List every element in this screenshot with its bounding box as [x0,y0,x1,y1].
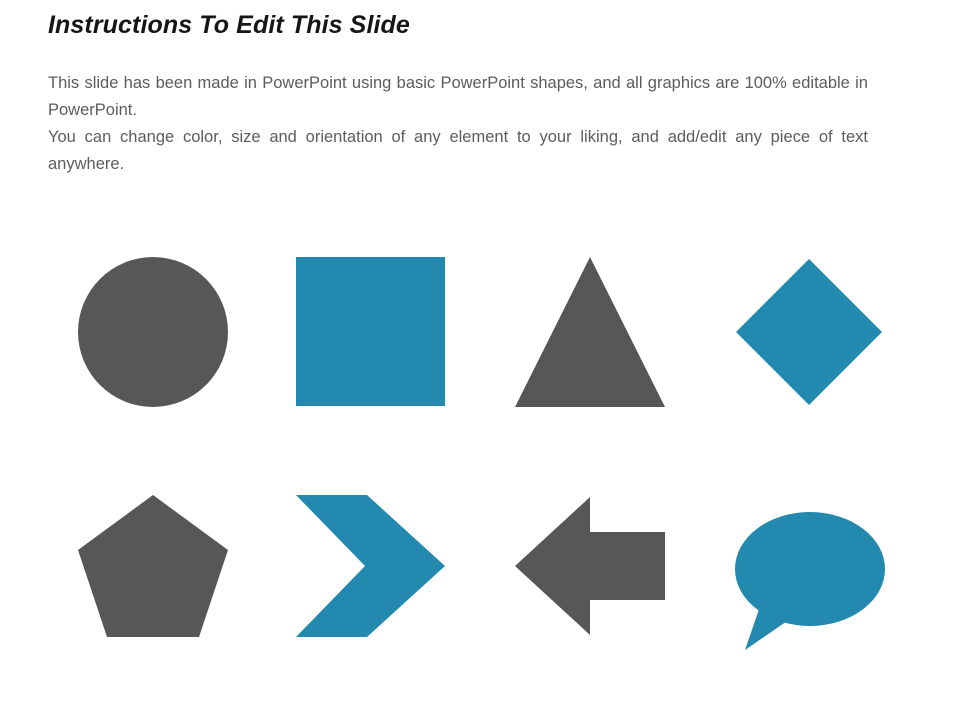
diamond-shape-path [736,259,882,405]
shape-cell-left-arrow[interactable] [476,487,686,687]
shape-cell-chevron[interactable] [257,487,467,687]
speech-bubble-icon [695,487,905,687]
square-icon [257,237,467,437]
instructions-paragraph-2: You can change color, size and orientati… [48,124,868,178]
speech-bubble-body-path [735,512,885,626]
left-arrow-shape-path [515,497,665,635]
shape-cell-speech-bubble[interactable] [695,487,905,687]
shape-cell-pentagon[interactable] [38,487,248,687]
shape-cell-triangle[interactable] [476,237,686,437]
pentagon-icon [38,487,248,687]
triangle-icon [476,237,686,437]
pentagon-shape-path [78,495,228,637]
slide-canvas: Instructions To Edit This Slide This sli… [0,0,960,720]
arrow-left-icon [476,487,686,687]
chevron-right-icon [257,487,467,687]
shape-cell-circle[interactable] [38,237,248,437]
instructions-paragraph-1: This slide has been made in PowerPoint u… [48,70,868,124]
circle-shape-path [78,257,228,407]
diamond-icon [695,237,905,437]
instructions-body: This slide has been made in PowerPoint u… [48,70,868,178]
circle-icon [38,237,248,437]
shape-cell-diamond[interactable] [695,237,905,437]
chevron-shape-path [296,495,445,637]
square-shape-path [296,257,445,406]
triangle-shape-path [515,257,665,407]
page-title: Instructions To Edit This Slide [48,11,410,40]
shape-gallery [0,225,960,675]
shape-cell-square[interactable] [257,237,467,437]
